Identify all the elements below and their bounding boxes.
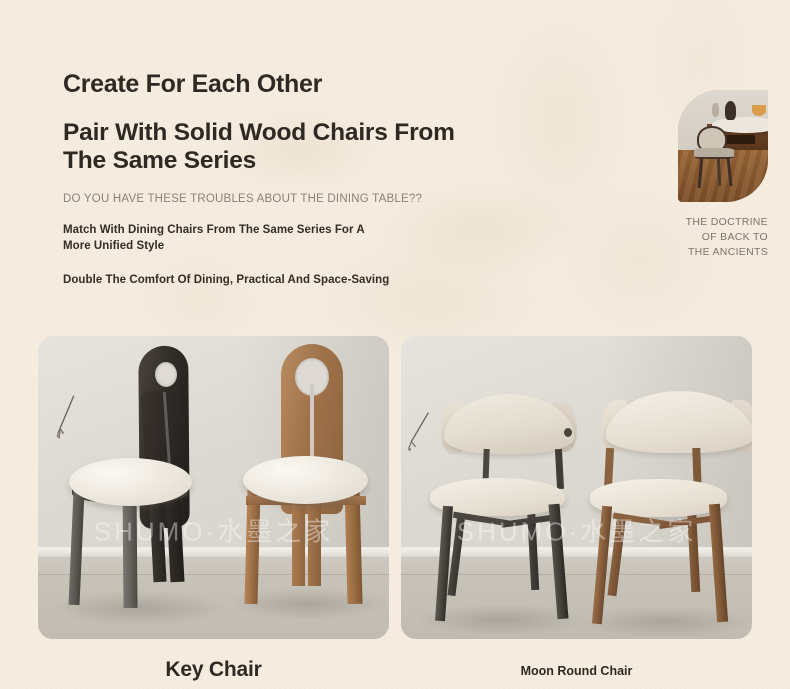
hero-eyebrow: Create For Each Other [63, 70, 623, 99]
thumbnail-caption-line-2: OF BACK TO [678, 230, 768, 245]
thumbnail-caption-line-1: THE DOCTRINE [678, 215, 768, 230]
dried-branch-icon [52, 394, 80, 446]
hero-kicker: DO YOU HAVE THESE TROUBLES ABOUT THE DIN… [63, 193, 623, 205]
moon-chair-dark-back-knob [564, 428, 572, 437]
hero-text-block: Create For Each Other Pair With Solid Wo… [63, 70, 623, 289]
hero-bullet-1: Match With Dining Chairs From The Same S… [63, 222, 373, 255]
thumbnail-block[interactable]: THE DOCTRINE OF BACK TO THE ANCIENTS [678, 90, 768, 261]
key-chair-walnut-seat [243, 456, 368, 504]
dried-branch-icon [405, 409, 433, 461]
product-card-key-chair[interactable]: SHUMO·水墨之家 Key Chair [38, 336, 389, 682]
product-card-moon-round-chair[interactable]: SHUMO·水墨之家 Moon Round Chair [401, 336, 752, 682]
key-chair-photo[interactable]: SHUMO·水墨之家 [38, 336, 389, 639]
thumb-fruit-bowl [752, 105, 766, 116]
thumbnail-caption-line-3: THE ANCIENTS [678, 245, 768, 260]
product-caption-moon-round-chair: Moon Round Chair [401, 664, 752, 678]
thumbnail-image[interactable] [678, 90, 768, 202]
moon-round-chair-photo[interactable]: SHUMO·水墨之家 [401, 336, 752, 639]
page-title: Pair With Solid Wood Chairs From The Sam… [63, 119, 493, 176]
key-chair-dark-seat [69, 458, 192, 506]
hero-bullet-2: Double The Comfort Of Dining, Practical … [63, 272, 423, 288]
product-card-list: SHUMO·水墨之家 Key Chair [38, 336, 752, 682]
thumb-vase [712, 103, 719, 116]
photo-floor-line [38, 574, 389, 575]
photo-floor [38, 557, 389, 639]
thumb-lamp [725, 101, 737, 120]
page-root: Create For Each Other Pair With Solid Wo… [0, 0, 790, 689]
product-caption-key-chair: Key Chair [38, 658, 389, 682]
thumbnail-caption: THE DOCTRINE OF BACK TO THE ANCIENTS [678, 215, 768, 261]
